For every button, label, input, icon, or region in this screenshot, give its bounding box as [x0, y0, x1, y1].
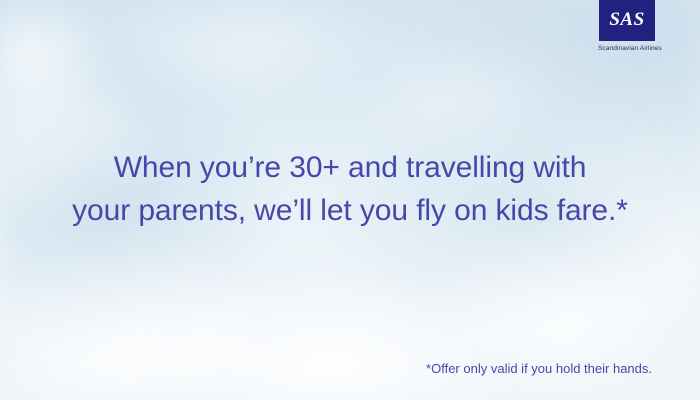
headline-line-2: your parents, we’ll let you fly on kids … [0, 189, 700, 232]
footnote-disclaimer: *Offer only valid if you hold their hand… [426, 360, 652, 377]
sas-logo-wordmark: SAS [609, 10, 644, 29]
headline-line-1: When you’re 30+ and travelling with [0, 146, 700, 189]
advertisement-canvas: SAS Scandinavian Airlines When you’re 30… [0, 0, 700, 400]
sas-logo[interactable]: SAS Scandinavian Airlines [599, 0, 655, 52]
sas-logo-tagline: Scandinavian Airlines [598, 45, 654, 52]
sas-logo-square: SAS [599, 0, 655, 41]
headline: When you’re 30+ and travelling with your… [0, 146, 700, 232]
